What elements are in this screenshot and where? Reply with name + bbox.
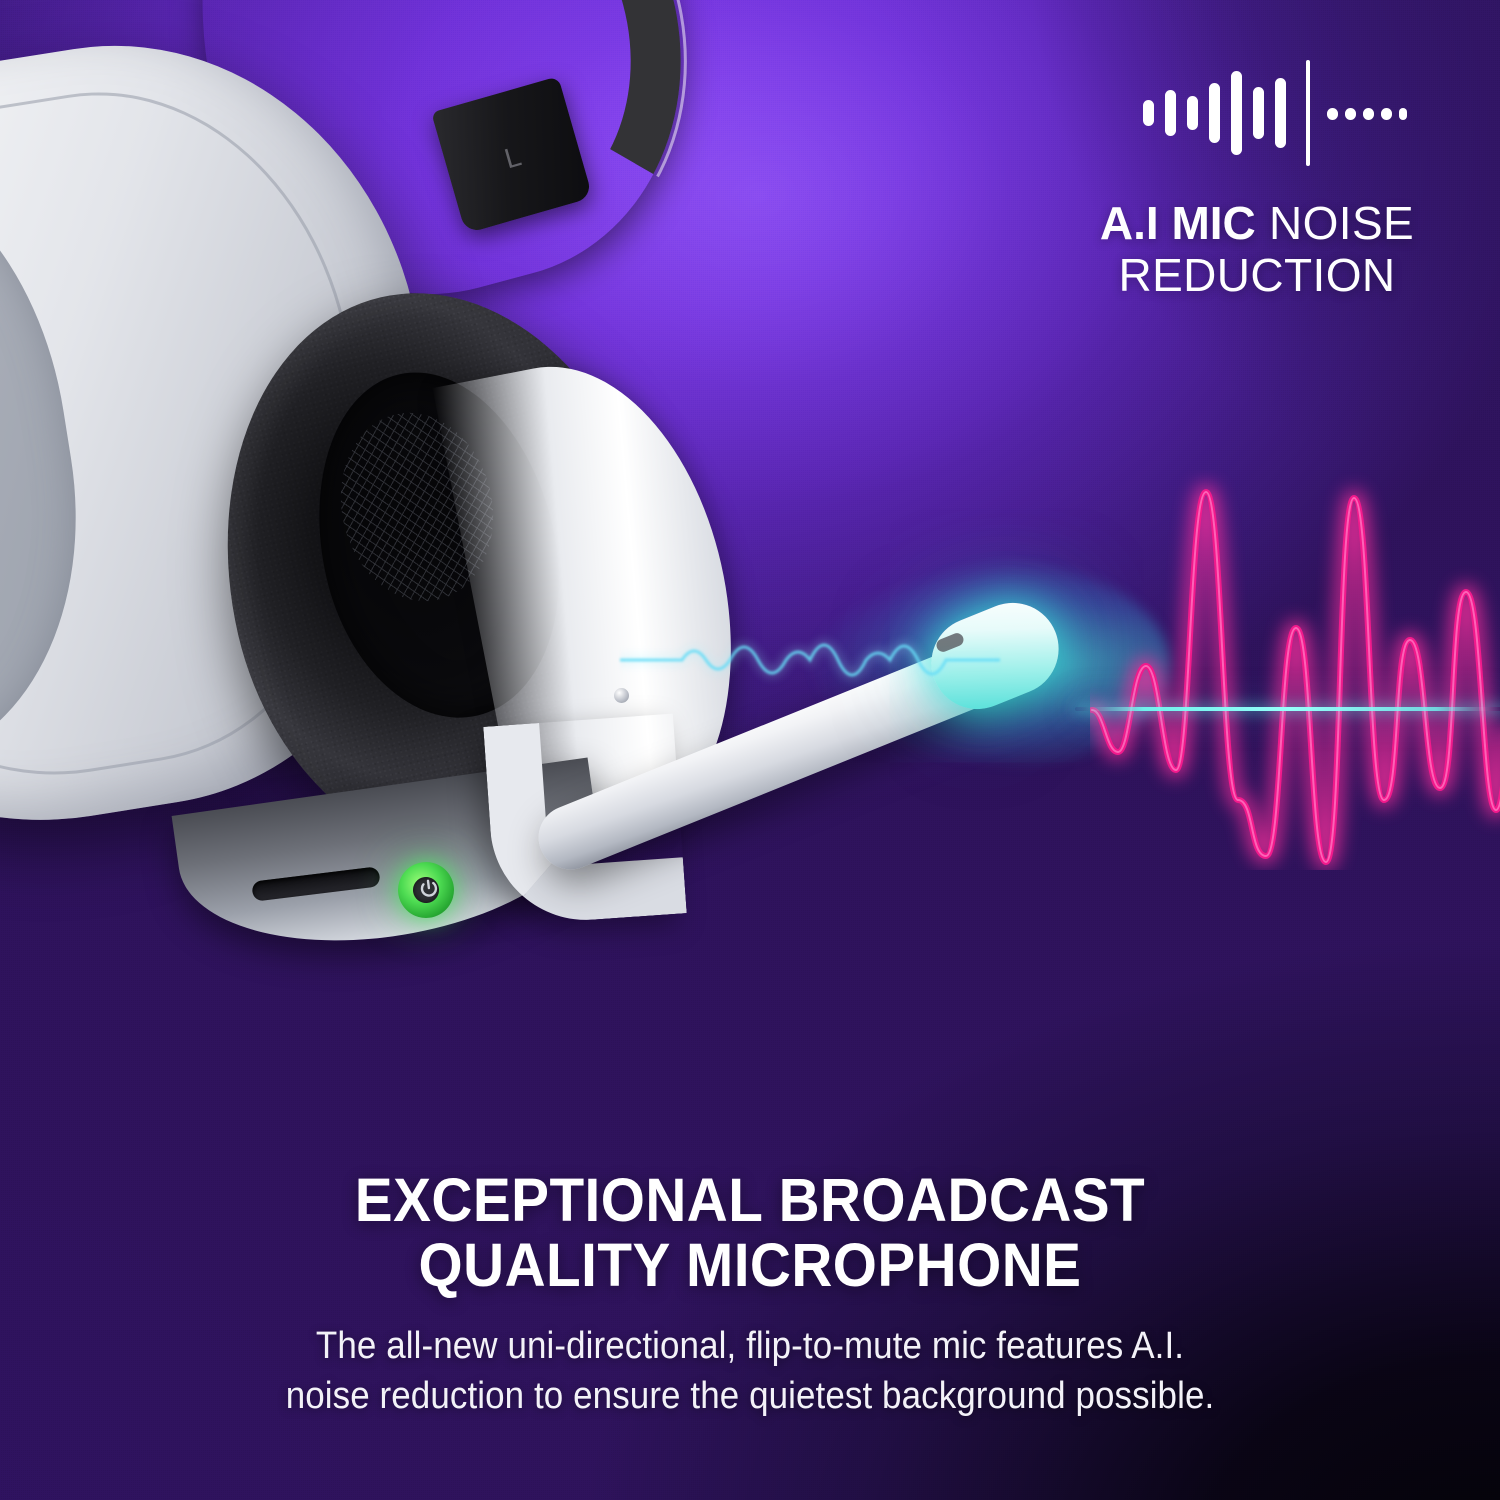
audio-waveform-icon [1107,58,1407,168]
headset-product-image: EACH [0,0,1110,1030]
feature-copy-block: EXCEPTIONAL BROADCAST QUALITY MICROPHONE… [0,1168,1500,1421]
headline-line-1: EXCEPTIONAL BROADCAST [53,1168,1448,1233]
pink-sound-wave [1090,470,1500,870]
badge-title-line2: REDUCTION [1118,249,1395,301]
badge-title: A.I MIC NOISE REDUCTION [1022,198,1492,301]
badge-title-strong: A.I MIC [1100,197,1256,249]
badge-title-rest: NOISE [1256,197,1414,249]
headline-line-2: QUALITY MICROPHONE [53,1233,1448,1298]
body-copy-line-2: noise reduction to ensure the quietest b… [60,1371,1440,1421]
cyan-beam-line [1075,707,1500,711]
headline: EXCEPTIONAL BROADCAST QUALITY MICROPHONE [53,1168,1448,1299]
power-icon [417,877,442,902]
product-feature-panel: EACH [0,0,1500,1500]
body-copy-line-1: The all-new uni-directional, flip-to-mut… [60,1321,1440,1371]
body-copy: The all-new uni-directional, flip-to-mut… [60,1321,1440,1421]
feature-badge: A.I MIC NOISE REDUCTION [1022,58,1492,301]
cyan-mic-waveform [620,600,1000,720]
